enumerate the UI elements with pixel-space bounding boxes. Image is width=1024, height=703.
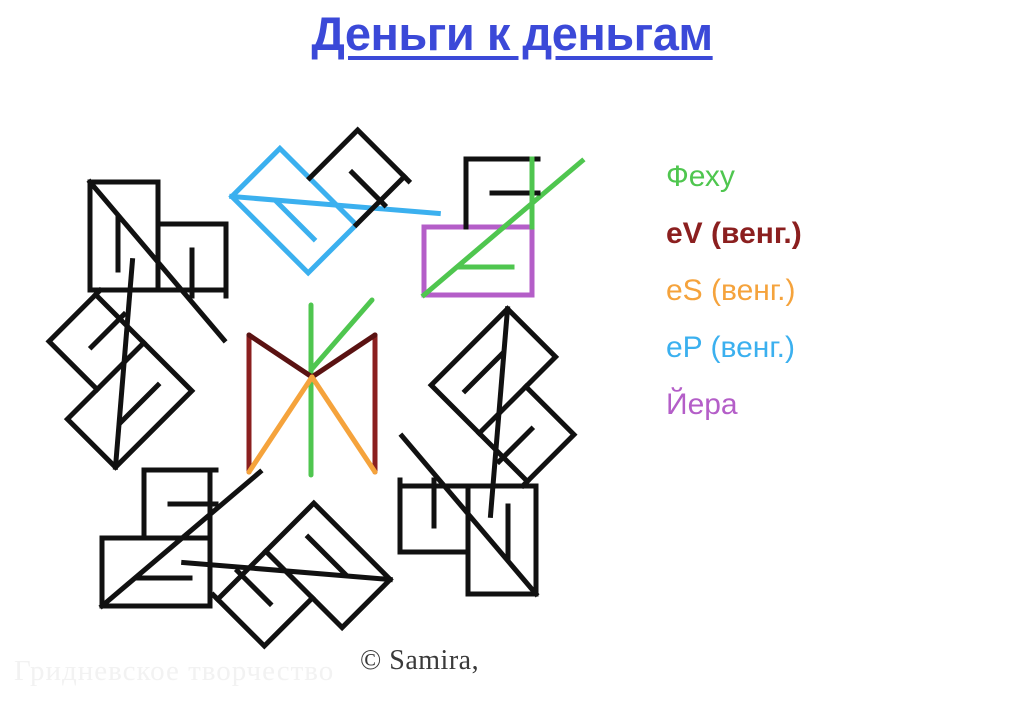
legend: Феху eV (венг.) eS (венг.) eP (венг.) Йе… — [666, 148, 1006, 433]
rune-bottom-right[interactable] — [400, 436, 536, 594]
center-stroke-es-right-diagonal — [312, 377, 375, 472]
copyright-credit: © Samira, — [360, 645, 479, 677]
accent-stroke-ep — [232, 148, 356, 272]
legend-label-es: eS (венг.) — [666, 274, 795, 307]
legend-item-yera[interactable]: Йера — [666, 376, 1006, 433]
rune-bottom-center[interactable] — [182, 468, 390, 660]
legend-item-ev[interactable]: eV (венг.) — [666, 205, 1006, 262]
accent-stroke-ep-tick — [277, 202, 314, 239]
rune-top-center[interactable] — [232, 100, 440, 308]
legend-item-es[interactable]: eS (венг.) — [666, 262, 1006, 319]
accent-stroke-fehu-diag — [424, 227, 504, 295]
legend-label-ev: eV (венг.) — [666, 217, 802, 250]
center-bind-rune[interactable] — [249, 300, 375, 475]
rune-mandala — [0, 60, 660, 660]
center-stroke-ev-left-diagonal — [249, 335, 312, 377]
rune-top-left[interactable] — [90, 182, 226, 340]
legend-item-fehu[interactable]: Феху — [666, 148, 1006, 205]
page-title: Деньги к деньгам — [0, 6, 1024, 61]
legend-item-ep[interactable]: eP (венг.) — [666, 319, 1006, 376]
legend-label-yera: Йера — [666, 388, 738, 421]
legend-label-ep: eP (венг.) — [666, 331, 795, 364]
rune-bottom-left[interactable] — [102, 470, 260, 606]
accent-stroke-ep-diag — [232, 102, 438, 308]
mandala-svg — [0, 60, 660, 660]
slide-canvas: Деньги к деньгам — [0, 0, 1024, 703]
legend-label-fehu: Феху — [666, 160, 735, 193]
rune-top-right[interactable] — [424, 159, 582, 295]
accent-stroke-yera — [424, 227, 532, 295]
center-stroke-es-left-diagonal — [249, 377, 312, 472]
